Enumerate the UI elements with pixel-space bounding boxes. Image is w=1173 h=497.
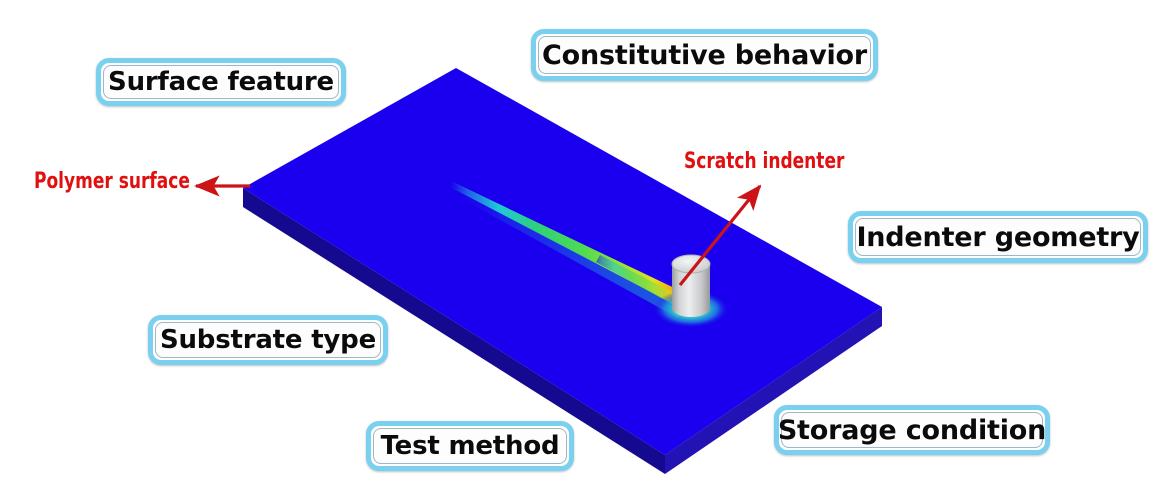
callout-inner: Indenter geometry xyxy=(855,218,1141,256)
callout-storage-condition[interactable]: Storage condition xyxy=(774,405,1050,455)
callout-substrate-type[interactable]: Substrate type xyxy=(148,315,388,365)
callout-indenter-geometry[interactable]: Indenter geometry xyxy=(848,211,1148,263)
callout-label: Test method xyxy=(381,433,560,459)
callout-inner: Surface feature xyxy=(103,65,339,99)
callout-test-method[interactable]: Test method xyxy=(366,421,574,471)
scratch-indenter-cylinder xyxy=(672,255,710,317)
callout-inner: Substrate type xyxy=(155,322,381,358)
callout-label: Surface feature xyxy=(108,69,334,95)
callout-inner: Constitutive behavior xyxy=(538,36,871,74)
callout-surface-feature[interactable]: Surface feature xyxy=(96,58,346,106)
callout-label: Substrate type xyxy=(160,327,376,353)
callout-label: Storage condition xyxy=(778,417,1046,444)
annotation-scratch-indenter: Scratch indenter xyxy=(684,151,844,173)
annotation-polymer-surface: Polymer surface xyxy=(34,171,190,193)
callout-label: Indenter geometry xyxy=(856,224,1139,251)
callout-label: Constitutive behavior xyxy=(542,42,867,69)
callout-inner: Storage condition xyxy=(781,412,1043,448)
figure-canvas: Polymer surface Scratch indenter Surface… xyxy=(0,0,1173,497)
callout-constitutive-behavior[interactable]: Constitutive behavior xyxy=(531,29,878,81)
callout-inner: Test method xyxy=(373,428,567,464)
